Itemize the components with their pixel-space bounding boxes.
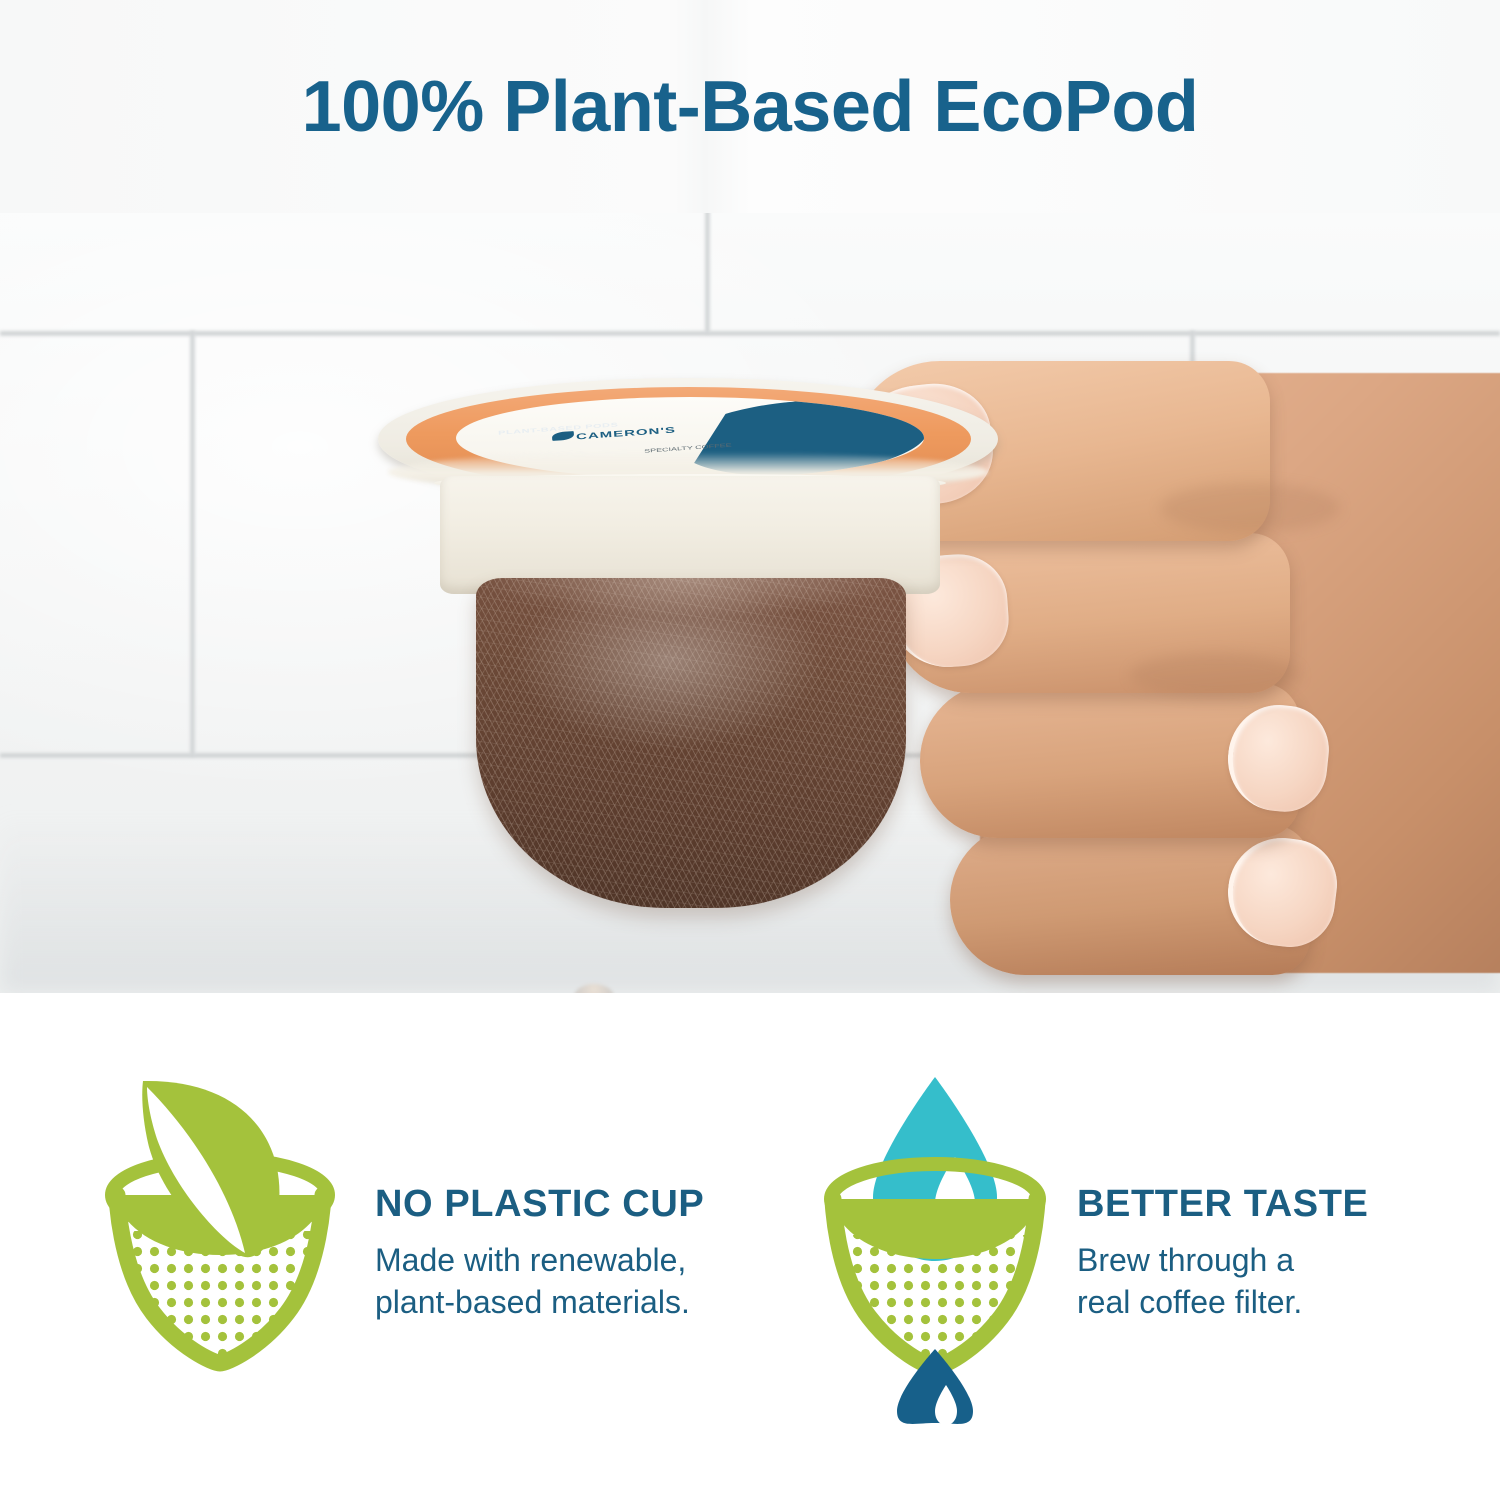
features-panel: NO PLASTIC CUP Made with renewable, plan… bbox=[0, 993, 1500, 1500]
product-infographic: 100% Plant-Based EcoPod bbox=[0, 0, 1500, 1500]
knuckle-crease bbox=[1130, 653, 1300, 697]
feature-heading: NO PLASTIC CUP bbox=[375, 1185, 704, 1225]
hero-photo: CAMERON'S SPECIALTY COFFEE PLANT-BASED P… bbox=[0, 213, 1500, 993]
title-banner: 100% Plant-Based EcoPod bbox=[0, 0, 1500, 213]
drop-basket-svg bbox=[815, 1073, 1055, 1433]
feature-text-block: BETTER TASTE Brew through a real coffee … bbox=[1077, 1073, 1369, 1323]
pouch-fiber-texture bbox=[476, 578, 906, 908]
coffee-filter-pouch bbox=[476, 578, 906, 908]
feature-text-block: NO PLASTIC CUP Made with renewable, plan… bbox=[375, 1073, 704, 1323]
grout-line-vertical bbox=[190, 331, 195, 756]
feature-no-plastic-cup: NO PLASTIC CUP Made with renewable, plan… bbox=[95, 1073, 704, 1403]
pouch-bottom-tip bbox=[574, 984, 614, 993]
page-title: 100% Plant-Based EcoPod bbox=[302, 71, 1199, 143]
pouch-highlight bbox=[476, 578, 906, 618]
feature-better-taste: BETTER TASTE Brew through a real coffee … bbox=[815, 1073, 1369, 1403]
knuckle-crease bbox=[1160, 483, 1340, 533]
pod-collar bbox=[440, 476, 940, 594]
grout-line-vertical bbox=[705, 213, 710, 333]
features-row: NO PLASTIC CUP Made with renewable, plan… bbox=[0, 993, 1500, 1500]
water-drop-through-filter-basket-icon bbox=[815, 1073, 1055, 1403]
feature-body: Made with renewable, plant-based materia… bbox=[375, 1239, 704, 1323]
feature-heading: BETTER TASTE bbox=[1077, 1185, 1369, 1225]
feature-body: Brew through a real coffee filter. bbox=[1077, 1239, 1369, 1323]
leaf-basket-svg bbox=[95, 1073, 345, 1403]
coffee-pod: CAMERON'S SPECIALTY COFFEE PLANT-BASED P… bbox=[378, 378, 1018, 993]
leaf-icon bbox=[552, 431, 575, 441]
leaf-in-filter-basket-icon bbox=[95, 1073, 345, 1403]
